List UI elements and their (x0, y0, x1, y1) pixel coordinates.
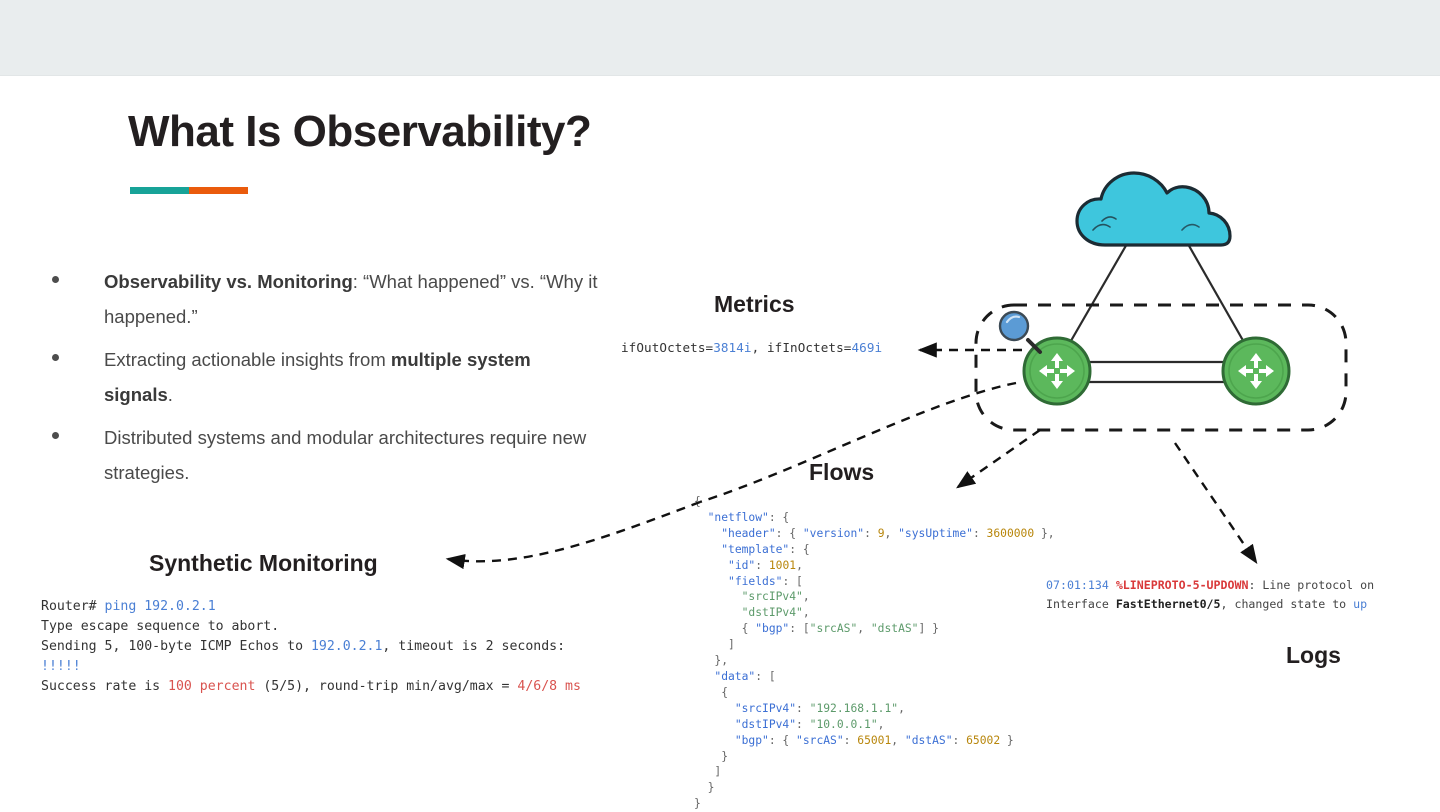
synthetic-ping-output: Router# ping 192.0.2.1 Type escape seque… (41, 597, 581, 697)
bullet-lead: Extracting actionable insights from (104, 349, 391, 370)
ping-line3b: , timeout is 2 seconds: (382, 639, 565, 654)
log-message-a: : Line protocol on (1248, 578, 1374, 592)
json-key-bgp: "bgp" (755, 622, 789, 635)
json-key-srcipv4: "srcIPv4" (735, 702, 796, 715)
router-right[interactable] (1223, 338, 1289, 404)
ping-target-ip: 192.0.2.1 (311, 639, 382, 654)
network-topology-diagram (930, 150, 1400, 480)
json-punct: : { (769, 734, 796, 747)
json-value-sysuptime: 3600000 (987, 527, 1035, 540)
json-punct: , (878, 718, 885, 731)
json-punct: } (1000, 734, 1014, 747)
bullet-dot-icon (52, 432, 59, 439)
json-key-netflow: "netflow" (708, 511, 769, 524)
json-key-bgp-data: "bgp" (735, 734, 769, 747)
json-punct: : (864, 527, 878, 540)
json-punct: : [ (755, 670, 775, 683)
json-punct: , (803, 606, 810, 619)
json-key-data: "data" (714, 670, 755, 683)
json-value-version: 9 (878, 527, 885, 540)
json-punct: : { (776, 527, 803, 540)
json-value-srcipv4: "192.168.1.1" (810, 702, 898, 715)
metrics-middle: , ifInOctets= (752, 340, 852, 355)
bullet-bold-prefix: Observability vs. Monitoring (104, 271, 353, 292)
flows-netflow-json: { "netflow": { "header": { "version": 9,… (694, 494, 1055, 812)
magnifier-icon (1000, 312, 1040, 352)
bullet-text: Distributed systems and modular architec… (104, 421, 604, 490)
json-value-srcipv4-field: "srcIPv4" (742, 590, 803, 603)
list-item: Distributed systems and modular architec… (52, 421, 632, 490)
section-label-logs: Logs (1286, 642, 1341, 669)
json-punct: , (803, 590, 810, 603)
json-key-dstas: "dstAS" (905, 734, 953, 747)
list-item: Observability vs. Monitoring: “What happ… (52, 265, 632, 334)
bullet-text: Observability vs. Monitoring: “What happ… (104, 265, 604, 334)
json-punct: : { (789, 543, 809, 556)
ping-bangs: !!!!! (41, 659, 81, 674)
json-punct: { (742, 622, 756, 635)
metrics-prefix: ifOutOctets= (621, 340, 713, 355)
accent-bar-teal (130, 187, 189, 194)
accent-bar (130, 187, 248, 194)
ping-line3a: Sending 5, 100-byte ICMP Echos to (41, 639, 311, 654)
ping-command: ping 192.0.2.1 (105, 599, 216, 614)
json-punct: : (953, 734, 967, 747)
json-punct: : (796, 718, 810, 731)
list-item: Extracting actionable insights from mult… (52, 343, 632, 412)
json-key-header: "header" (721, 527, 775, 540)
bullet-dot-icon (52, 276, 59, 283)
logs-syslog-line: 07:01:134 %LINEPROTO-5-UPDOWN: Line prot… (1046, 576, 1374, 614)
section-label-metrics: Metrics (714, 291, 795, 318)
log-message-b: Interface (1046, 597, 1116, 611)
ping-rtt: 4/6/8 ms (517, 679, 581, 694)
json-open-brace: { (694, 495, 701, 508)
json-punct: , (885, 527, 899, 540)
json-value-id: 1001 (769, 559, 796, 572)
bullet-dot-icon (52, 354, 59, 361)
json-punct: , (891, 734, 905, 747)
bullet-list: Observability vs. Monitoring: “What happ… (52, 265, 632, 499)
json-punct: , (857, 622, 871, 635)
json-punct: : (844, 734, 858, 747)
json-punct: , (796, 559, 803, 572)
json-punct: { (721, 686, 728, 699)
json-punct: : (796, 702, 810, 715)
ping-line2: Type escape sequence to abort. (41, 619, 279, 634)
bullet-text: Extracting actionable insights from mult… (104, 343, 604, 412)
json-value-dstas-field: "dstAS" (871, 622, 919, 635)
metrics-out-value: 3814i (713, 340, 751, 355)
json-punct: } (721, 750, 728, 763)
page-title: What Is Observability? (128, 108, 591, 156)
top-bar (0, 0, 1440, 76)
metrics-in-value: 469i (851, 340, 882, 355)
json-punct: }, (1034, 527, 1054, 540)
json-punct: : [ (782, 575, 802, 588)
json-punct: , (898, 702, 905, 715)
json-value-srcas: 65001 (857, 734, 891, 747)
json-key-dstipv4: "dstIPv4" (735, 718, 796, 731)
section-label-flows: Flows (809, 459, 874, 486)
json-key-template: "template" (721, 543, 789, 556)
section-label-synthetic-monitoring: Synthetic Monitoring (149, 550, 378, 577)
metrics-snmp-line: ifOutOctets=3814i, ifInOctets=469i (621, 340, 882, 355)
json-key-id: "id" (728, 559, 755, 572)
json-punct: : { (769, 511, 789, 524)
bullet-tail: . (168, 384, 173, 405)
log-facility: %LINEPROTO-5-UPDOWN (1116, 578, 1249, 592)
log-timestamp: 07:01:134 (1046, 578, 1109, 592)
json-punct: : (973, 527, 987, 540)
json-punct: ] } (918, 622, 938, 635)
log-state: up (1353, 597, 1367, 611)
ping-success-rate: 100 percent (168, 679, 255, 694)
json-value-dstipv4-field: "dstIPv4" (742, 606, 803, 619)
json-key-sysuptime: "sysUptime" (898, 527, 973, 540)
cloud-icon (1077, 173, 1230, 245)
json-punct: : [ (789, 622, 809, 635)
json-value-dstas: 65002 (966, 734, 1000, 747)
json-key-srcas: "srcAS" (796, 734, 844, 747)
ping-line5a: Success rate is (41, 679, 168, 694)
arrow-to-synthetic-monitoring (448, 502, 700, 561)
json-value-dstipv4: "10.0.0.1" (810, 718, 878, 731)
log-interface: FastEthernet0/5 (1116, 597, 1221, 611)
ping-prompt: Router# (41, 599, 105, 614)
ping-line5b: (5/5), round-trip min/avg/max = (255, 679, 517, 694)
json-punct: } (708, 781, 715, 794)
json-value-srcas-field: "srcAS" (810, 622, 858, 635)
json-punct: } (694, 797, 701, 810)
json-key-version: "version" (803, 527, 864, 540)
accent-bar-orange (189, 187, 248, 194)
log-message-c: , changed state to (1221, 597, 1354, 611)
json-punct: : (755, 559, 769, 572)
json-key-fields: "fields" (728, 575, 782, 588)
json-punct: ] (714, 765, 721, 778)
json-punct: }, (714, 654, 728, 667)
json-punct: ] (728, 638, 735, 651)
